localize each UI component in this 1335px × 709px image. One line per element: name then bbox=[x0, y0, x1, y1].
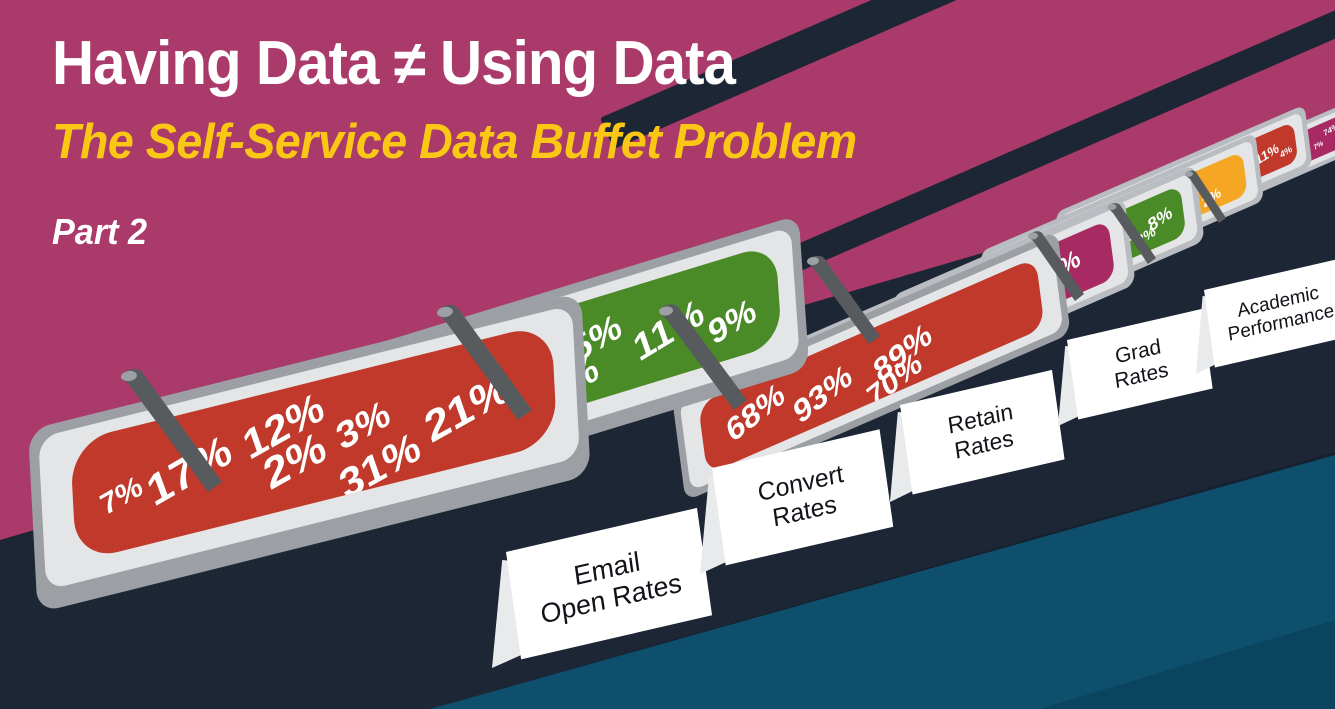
tent-card-label: Retain Rates bbox=[946, 399, 1018, 465]
tent-card-face: Academic Performance bbox=[1204, 258, 1335, 368]
tent-card-label: Grad Rates bbox=[1110, 335, 1170, 394]
tent-card-retain-rates[interactable]: Retain Rates bbox=[890, 405, 1058, 503]
tent-card-convert-rates[interactable]: Convert Rates bbox=[700, 468, 886, 576]
tent-card-grad-rates[interactable]: Grad Rates bbox=[1058, 340, 1206, 428]
data-value: 7% bbox=[1313, 140, 1324, 152]
tent-card-label: Academic Performance bbox=[1224, 279, 1335, 346]
tent-card-face: Email Open Rates bbox=[506, 508, 712, 659]
serving-ladle-icon[interactable] bbox=[428, 300, 558, 430]
serving-ladle-icon[interactable] bbox=[651, 300, 771, 420]
page-title: Having Data ≠ Using Data bbox=[52, 32, 1058, 95]
tent-card-academic-performance[interactable]: Academic Performance bbox=[1196, 290, 1335, 376]
part-label: Part 2 bbox=[52, 211, 1069, 253]
data-value: 74% bbox=[1323, 121, 1335, 138]
serving-ladle-icon[interactable] bbox=[112, 364, 252, 504]
tent-card-label: Email Open Rates bbox=[535, 537, 684, 630]
serving-ladle-icon[interactable] bbox=[800, 252, 900, 352]
serving-ladle-icon[interactable] bbox=[1180, 168, 1240, 228]
tent-card-face: Grad Rates bbox=[1067, 309, 1213, 420]
headline-block: Having Data ≠ Using Data The Self-Servic… bbox=[52, 32, 1122, 253]
tent-card-email-open-rates[interactable]: Email Open Rates bbox=[492, 552, 702, 670]
data-value: 4% bbox=[1279, 144, 1293, 161]
tent-card-label: Convert Rates bbox=[756, 460, 849, 535]
infographic-banner: Having Data ≠ Using Data The Self-Servic… bbox=[0, 0, 1335, 709]
page-subtitle: The Self-Service Data Buffet Problem bbox=[52, 117, 1069, 168]
